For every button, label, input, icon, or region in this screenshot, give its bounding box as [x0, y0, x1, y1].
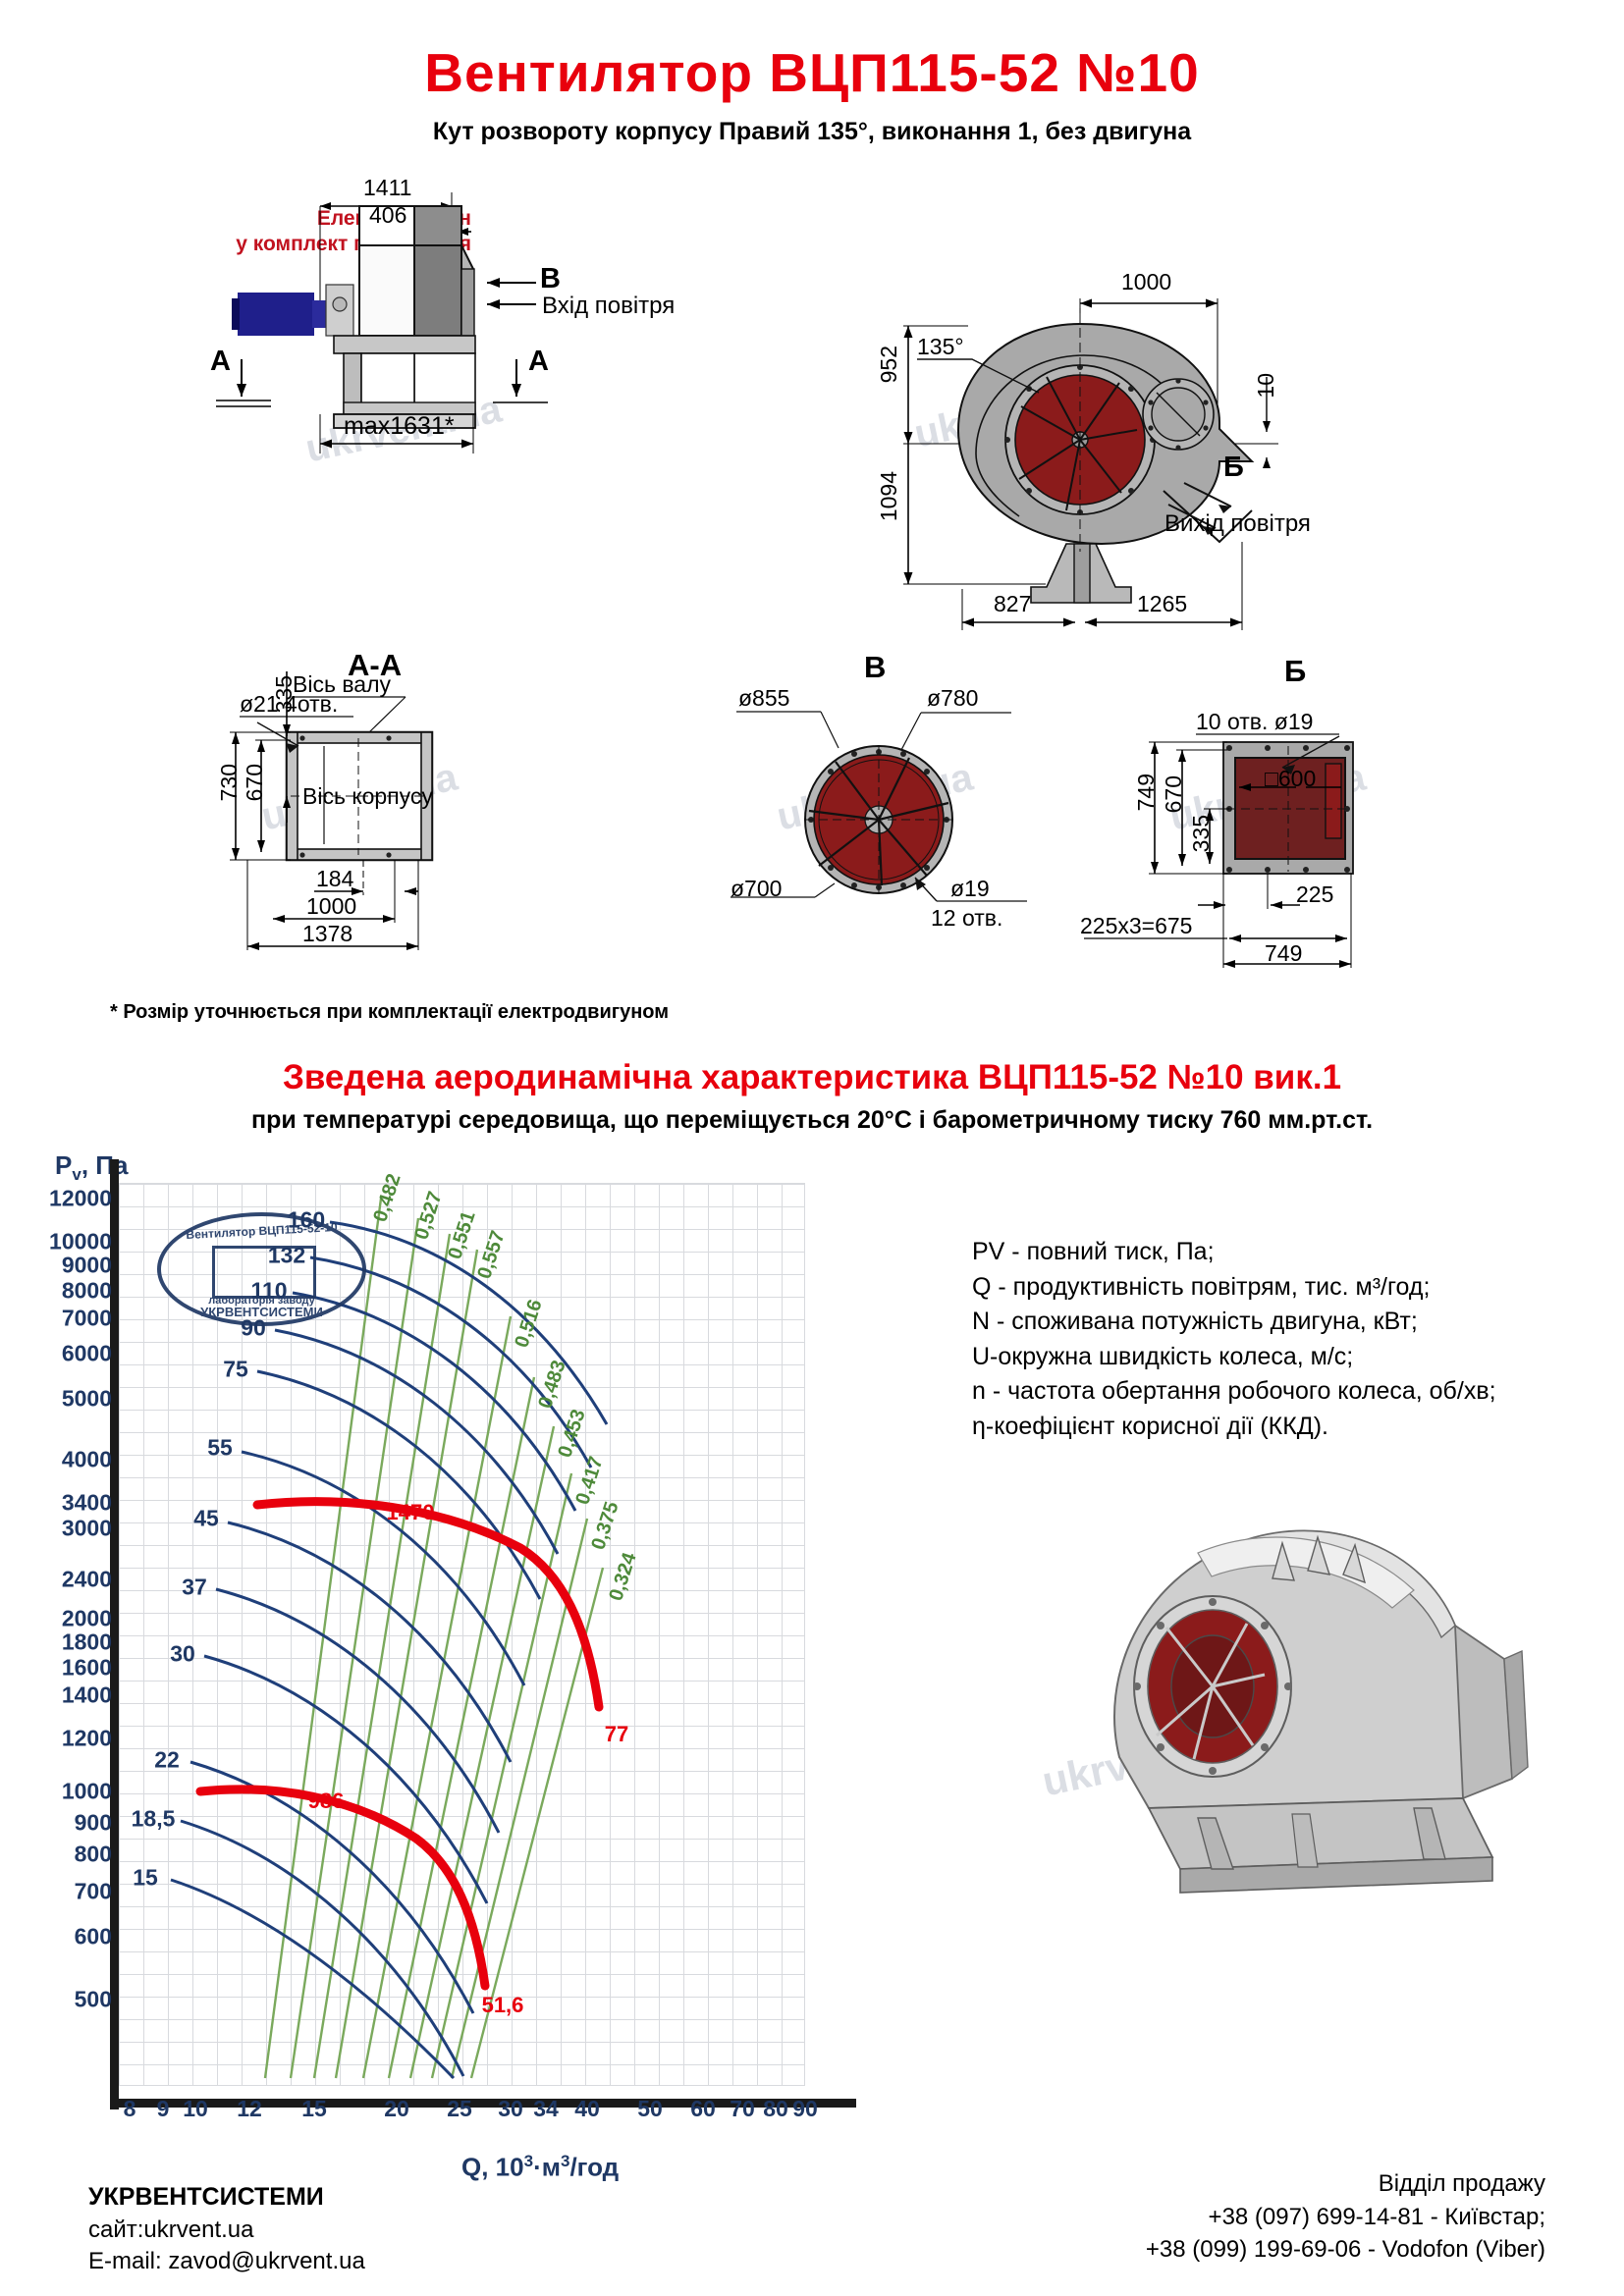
dim-600: □600 — [1265, 766, 1316, 792]
power-curve-label: 37 — [182, 1575, 207, 1601]
email[interactable]: E-mail: zavod@ukrvent.ua — [88, 2246, 365, 2277]
dim-670-aa: 670 — [242, 764, 268, 801]
x-tick: 50 — [637, 2096, 663, 2122]
holes-label-v: 12 отв. — [931, 905, 1002, 932]
stamp-line-3: УКРВЕНТСИСТЕМИ — [161, 1305, 362, 1319]
legend-item: U-окружна швидкість колеса, м/с; — [972, 1340, 1496, 1375]
aerodynamic-chart: 12000 10000 9000 8000 7000 6000 5000 400… — [118, 1183, 805, 2086]
y-tick: 700 — [75, 1879, 112, 1905]
dim-730: 730 — [216, 764, 243, 801]
dim-827: 827 — [994, 591, 1031, 617]
y-tick: 2400 — [62, 1567, 112, 1593]
y-tick: 600 — [75, 1924, 112, 1950]
holes-label-b: 10 отв. ø19 — [1196, 709, 1313, 735]
x-tick: 25 — [447, 2096, 472, 2122]
dim-d855: ø855 — [738, 685, 789, 712]
dim-749-horiz: 749 — [1265, 940, 1302, 967]
x-tick: 34 — [533, 2096, 559, 2122]
laboratory-stamp: Вентилятор ВЦП115-52-10 лабораторія заво… — [157, 1212, 366, 1326]
y-tick: 1600 — [62, 1655, 112, 1682]
dim-d780: ø780 — [927, 685, 978, 712]
website[interactable]: сайт:ukrvent.ua — [88, 2215, 365, 2246]
y-tick: 2000 — [62, 1606, 112, 1632]
dim-10: 10 — [1253, 373, 1279, 399]
y-tick: 1400 — [62, 1682, 112, 1709]
chart-subtitle: при температурі середовища, що переміщує… — [0, 1106, 1624, 1135]
dim-225x3: 225х3=675 — [1080, 913, 1192, 939]
fan-3d-illustration — [1001, 1433, 1551, 1944]
power-curve-label: 18,5 — [132, 1806, 176, 1833]
power-curve-label: 15 — [133, 1865, 158, 1892]
u-label-77: 77 — [605, 1722, 628, 1747]
dim-1378: 1378 — [302, 921, 352, 947]
inlet-air-label: Вхід повітря — [542, 293, 675, 320]
x-axis-title: Q, 103·м3/год — [461, 2152, 619, 2183]
legend-item: Q - продуктивність повітрям, тис. м³/год… — [972, 1270, 1496, 1306]
dim-d700: ø700 — [731, 876, 782, 902]
y-tick: 500 — [75, 1987, 112, 2013]
footnote-text: * Розмір уточнюється при комплектації ел… — [110, 1001, 669, 1024]
view-v-drawing: В ø855 ø780 ø700 — [717, 648, 1051, 972]
power-curve-label: 22 — [154, 1747, 180, 1774]
legend-item: N - споживана потужність двигуна, кВт; — [972, 1305, 1496, 1340]
y-tick: 9000 — [62, 1253, 112, 1279]
dim-225: 225 — [1296, 881, 1333, 908]
x-tick: 30 — [498, 2096, 523, 2122]
y-tick: 10000 — [49, 1229, 112, 1255]
footer-company-block: УКРВЕНТСИСТЕМИ сайт:ukrvent.ua E-mail: z… — [88, 2181, 365, 2278]
y-tick: 4000 — [62, 1447, 112, 1473]
y-tick: 800 — [75, 1842, 112, 1868]
view-b-drawing: Б — [1060, 648, 1424, 982]
dim-749-vert: 749 — [1133, 774, 1160, 811]
legend-item: PV - повний тиск, Па; — [972, 1235, 1496, 1270]
front-view-drawing: 1000 952 1094 135° 10 Б Вихід повітря 82… — [874, 257, 1326, 650]
page-subtitle: Кут розвороту корпусу Правий 135°, викон… — [0, 118, 1624, 146]
dim-d19-v: ø19 — [950, 876, 990, 902]
power-curve-label: 30 — [170, 1641, 195, 1668]
power-curve-label: 75 — [223, 1357, 248, 1383]
dim-1000-front: 1000 — [1121, 269, 1171, 295]
x-tick: 10 — [183, 2096, 208, 2122]
speed-label-986: 986 — [308, 1789, 345, 1814]
x-tick: 80 — [763, 2096, 788, 2122]
dim-max1631: max1631* — [344, 412, 455, 441]
outlet-air-label: Вихід повітря — [1164, 510, 1311, 538]
body-axis-label: Вісь корпусу — [302, 783, 433, 810]
section-aa-drawing: А-А — [226, 648, 638, 972]
marker-a-left: А — [210, 346, 231, 378]
dim-1265: 1265 — [1137, 591, 1187, 617]
y-tick: 3400 — [62, 1490, 112, 1517]
legend-item: n - частота обертання робочого колеса, о… — [972, 1374, 1496, 1410]
chart-legend: PV - повний тиск, Па; Q - продуктивність… — [972, 1235, 1496, 1444]
chart-title: Зведена аеродинамічна характеристика ВЦП… — [0, 1058, 1624, 1097]
marker-b-front: Б — [1223, 452, 1244, 484]
y-tick: 8000 — [62, 1278, 112, 1305]
x-tick: 40 — [574, 2096, 600, 2122]
power-curve-label: 55 — [207, 1435, 233, 1462]
dim-1411: 1411 — [363, 175, 411, 201]
power-curve-label: 45 — [193, 1506, 219, 1532]
y-tick: 7000 — [62, 1306, 112, 1332]
dim-952: 952 — [876, 346, 902, 383]
sales-title: Відділ продажу — [1146, 2167, 1545, 2201]
dim-670-b: 670 — [1161, 775, 1187, 813]
speed-label-1470: 1470 — [387, 1500, 435, 1525]
u-label-516: 51,6 — [482, 1993, 524, 2018]
y-tick: 6000 — [62, 1341, 112, 1367]
y-tick: 5000 — [62, 1386, 112, 1413]
x-tick: 60 — [690, 2096, 716, 2122]
dim-335-b: 335 — [1188, 815, 1215, 852]
y-tick: 1200 — [62, 1726, 112, 1752]
x-tick: 15 — [301, 2096, 327, 2122]
x-tick: 9 — [157, 2096, 170, 2122]
x-tick: 70 — [730, 2096, 755, 2122]
y-tick: 12000 — [49, 1186, 112, 1212]
x-tick: 20 — [384, 2096, 409, 2122]
y-tick: 900 — [75, 1810, 112, 1837]
y-tick: 3000 — [62, 1516, 112, 1542]
dim-1094: 1094 — [876, 471, 902, 521]
x-tick: 8 — [124, 2096, 136, 2122]
dim-406: 406 — [369, 202, 406, 229]
marker-b-side: В — [540, 263, 561, 295]
side-view-drawing: Електродвигуну комплект постачанняне вхо… — [177, 167, 687, 648]
footer-sales-block: Відділ продажу +38 (097) 699-14-81 - Киї… — [1146, 2167, 1545, 2267]
phone-vodafone[interactable]: +38 (099) 199-69-06 - Vodofon (Viber) — [1146, 2233, 1545, 2267]
phone-kyivstar[interactable]: +38 (097) 699-14-81 - Київстар; — [1146, 2201, 1545, 2234]
x-tick: 12 — [237, 2096, 262, 2122]
angle-135-label: 135° — [917, 334, 964, 360]
dim-335-aa: 335 — [271, 675, 298, 713]
company-name: УКРВЕНТСИСТЕМИ — [88, 2181, 365, 2215]
x-tick: 90 — [792, 2096, 818, 2122]
page-title: Вентилятор ВЦП115-52 №10 — [0, 41, 1624, 104]
fan-icon — [212, 1246, 316, 1299]
y-tick: 1800 — [62, 1629, 112, 1656]
marker-a-right: А — [528, 346, 549, 378]
dim-1000-aa: 1000 — [306, 893, 356, 920]
dim-184: 184 — [316, 866, 353, 892]
y-tick: 1000 — [62, 1779, 112, 1805]
